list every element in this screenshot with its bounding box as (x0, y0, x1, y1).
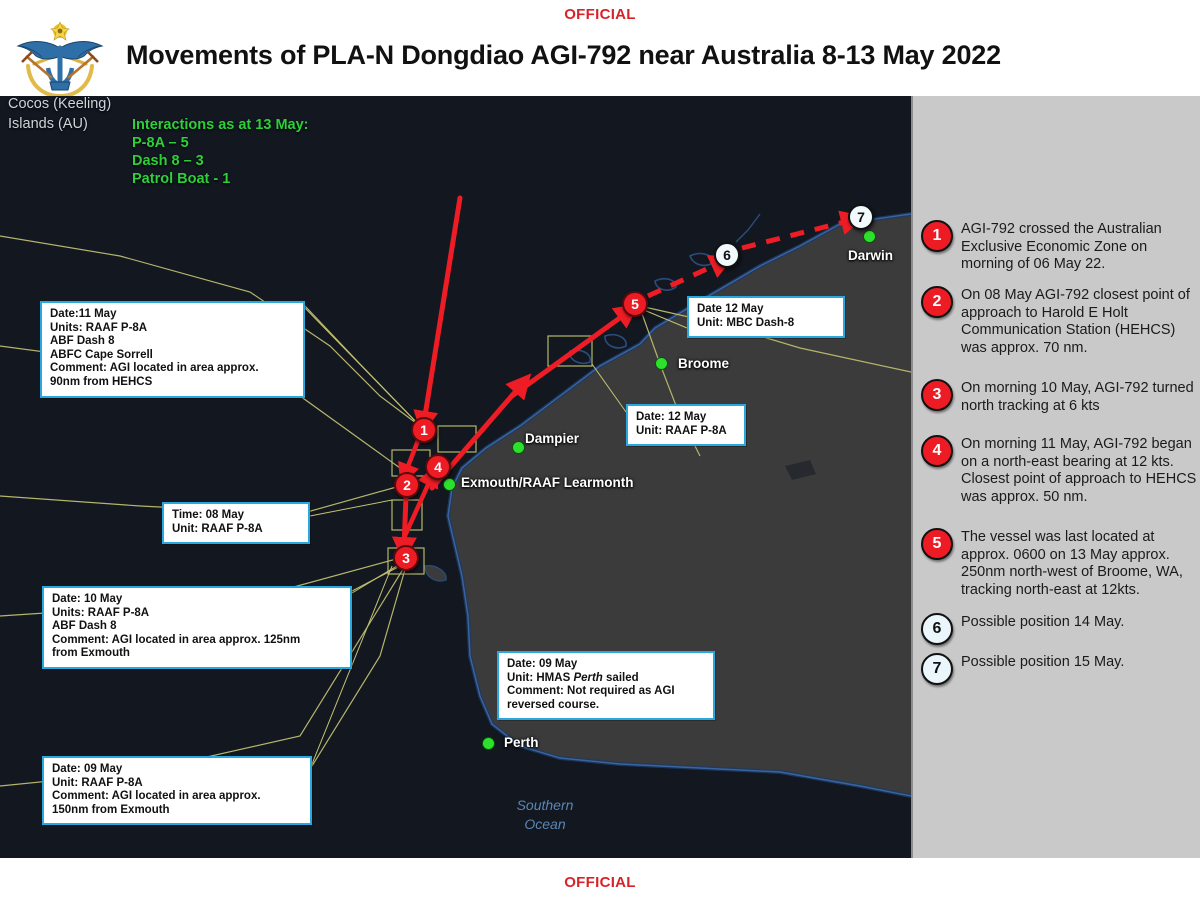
legend-panel: 1AGI-792 crossed the Australian Exclusiv… (911, 96, 1200, 858)
legend-item-3: 3On morning 10 May, AGI-792 turned north… (921, 379, 1197, 415)
classification-banner-top: OFFICIAL (0, 6, 1200, 23)
legend-text-1: AGI-792 crossed the Australian Exclusive… (961, 220, 1197, 274)
cocos-islands-label: Cocos (Keeling) Islands (AU) (8, 96, 111, 134)
legend-badge-4: 4 (921, 435, 953, 467)
city-dot-dampier (512, 441, 525, 454)
map-marker-3[interactable]: 3 (393, 545, 419, 571)
page-title: Movements of PLA-N Dongdiao AGI-792 near… (126, 40, 1001, 71)
legend-item-7: 7Possible position 15 May. (921, 653, 1197, 685)
legend-badge-7: 7 (921, 653, 953, 685)
city-label-perth: Perth (504, 735, 539, 750)
australian-defence-force-crest-icon (12, 22, 108, 96)
map-marker-1[interactable]: 1 (411, 417, 437, 443)
legend-badge-2: 2 (921, 286, 953, 318)
legend-text-4: On morning 11 May, AGI-792 began on a no… (961, 435, 1197, 506)
page-header: Movements of PLA-N Dongdiao AGI-792 near… (0, 22, 1200, 96)
legend-text-7: Possible position 15 May. (961, 653, 1124, 672)
legend-text-6: Possible position 14 May. (961, 613, 1124, 632)
classification-banner-bottom: OFFICIAL (0, 874, 1200, 891)
callout-11-may: Date:11 MayUnits: RAAF P-8AABF Dash 8ABF… (40, 301, 305, 398)
city-label-dampier: Dampier (525, 431, 579, 446)
city-dot-perth (482, 737, 495, 750)
legend-badge-6: 6 (921, 613, 953, 645)
map-canvas[interactable]: Cocos (Keeling) Islands (AU) Interaction… (0, 96, 911, 858)
callout-12-may-raaf: Date: 12 MayUnit: RAAF P-8A (626, 404, 746, 446)
callout-12-may-mbc: Date 12 MayUnit: MBC Dash-8 (687, 296, 845, 338)
city-label-exmouth: Exmouth/RAAF Learmonth (461, 475, 634, 490)
legend-item-4: 4On morning 11 May, AGI-792 began on a n… (921, 435, 1197, 506)
map-marker-2[interactable]: 2 (394, 472, 420, 498)
city-label-darwin: Darwin (848, 248, 893, 263)
legend-badge-5: 5 (921, 528, 953, 560)
legend-badge-1: 1 (921, 220, 953, 252)
legend-text-3: On morning 10 May, AGI-792 turned north … (961, 379, 1197, 415)
legend-item-6: 6Possible position 14 May. (921, 613, 1197, 645)
callout-08-may: Time: 08 MayUnit: RAAF P-8A (162, 502, 310, 544)
city-dot-darwin (863, 230, 876, 243)
city-dot-exmouth (443, 478, 456, 491)
map-marker-6[interactable]: 6 (714, 242, 740, 268)
map-marker-7[interactable]: 7 (848, 204, 874, 230)
interactions-summary: Interactions as at 13 May: P-8A – 5 Dash… (132, 116, 309, 188)
legend-text-2: On 08 May AGI-792 closest point of appro… (961, 286, 1197, 357)
legend-item-5: 5The vessel was last located at approx. … (921, 528, 1197, 599)
legend-badge-3: 3 (921, 379, 953, 411)
callout-09-may-hmas-perth: Date: 09 MayUnit: HMAS Perth sailedComme… (497, 651, 715, 720)
map-marker-4[interactable]: 4 (425, 454, 451, 480)
legend-item-2: 2On 08 May AGI-792 closest point of appr… (921, 286, 1197, 357)
callout-09-may-exmouth: Date: 09 MayUnit: RAAF P-8AComment: AGI … (42, 756, 312, 825)
map-graphics (0, 96, 911, 858)
city-dot-broome (655, 357, 668, 370)
callout-10-may: Date: 10 MayUnits: RAAF P-8AABF Dash 8Co… (42, 586, 352, 669)
southern-ocean-label: Southern Ocean (500, 796, 590, 834)
map-marker-5[interactable]: 5 (622, 291, 648, 317)
city-label-broome: Broome (678, 356, 729, 371)
legend-item-1: 1AGI-792 crossed the Australian Exclusiv… (921, 220, 1197, 274)
legend-text-5: The vessel was last located at approx. 0… (961, 528, 1197, 599)
